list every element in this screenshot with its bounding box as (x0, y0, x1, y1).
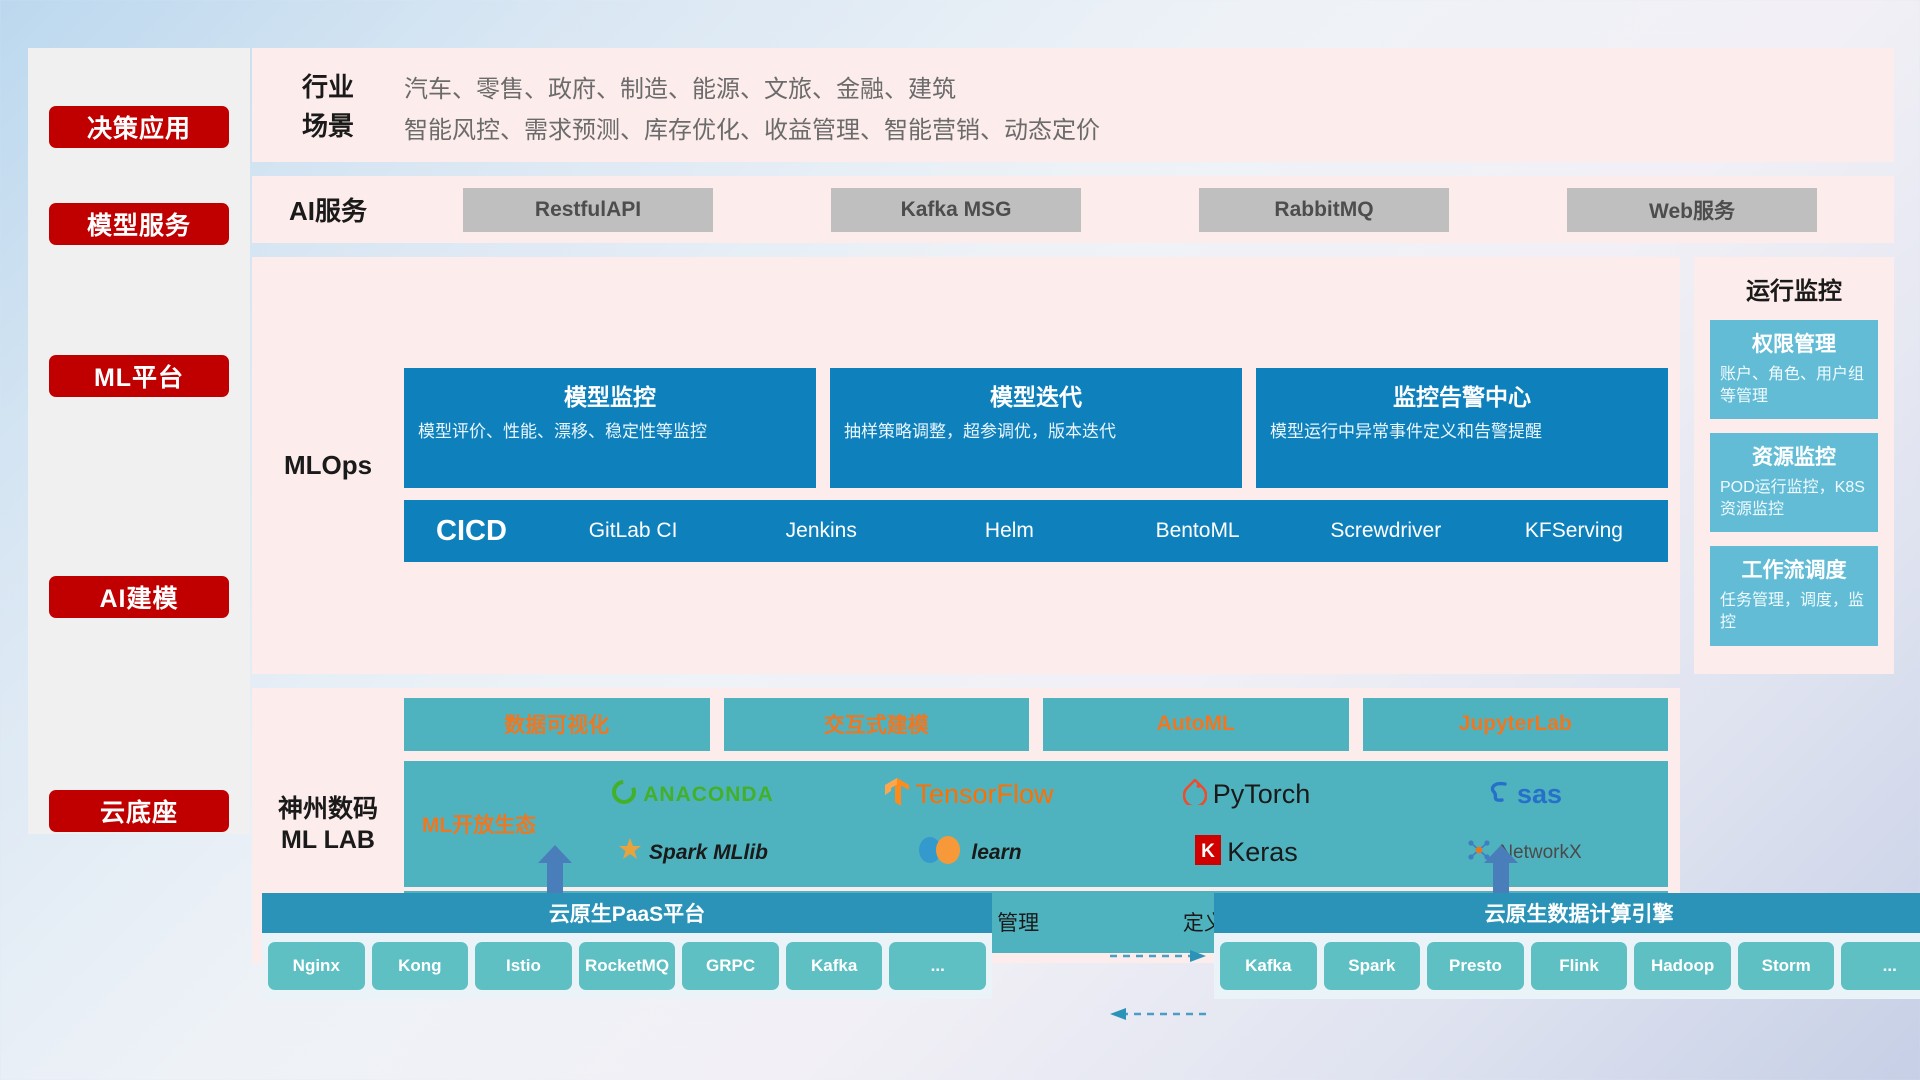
arrow-up-left-icon (538, 845, 572, 893)
apps-label-column: 行业 场景 (252, 66, 404, 144)
ml-eco-label: ML开放生态 (404, 809, 554, 839)
monitor-card-desc: 任务管理，调度，监控 (1720, 590, 1868, 633)
mlops-label: MLOps (284, 450, 372, 481)
mlops-card-desc: 抽样策略调整，超参调优，版本迭代 (844, 421, 1228, 444)
monitor-card-title: 权限管理 (1720, 328, 1868, 358)
monitor-title: 运行监控 (1710, 271, 1878, 306)
lab-tool-2[interactable]: AutoML (1043, 698, 1349, 751)
cicd-item-3[interactable]: BentoML (1104, 517, 1292, 545)
service-chip-3[interactable]: Web服务 (1567, 188, 1817, 232)
mlops-card-title: 模型迭代 (844, 378, 1228, 412)
services-label-column: AI服务 (252, 191, 404, 228)
monitor-card-list: 权限管理账户、角色、用户组等管理资源监控POD运行监控，K8S资源监控工作流调度… (1710, 320, 1878, 646)
band-ai-services: AI服务 RestfulAPIKafka MSGRabbitMQWeb服务 (252, 176, 1894, 243)
cloud-paas-chip-1[interactable]: Kong (372, 942, 469, 990)
cloud-paas-chip-3[interactable]: RocketMQ (579, 942, 676, 990)
anaconda-icon (611, 779, 637, 810)
cicd-item-0[interactable]: GitLab CI (539, 517, 727, 545)
mlops-card-1[interactable]: 模型迭代抽样策略调整，超参调优，版本迭代 (830, 368, 1242, 488)
band-divider (252, 243, 1894, 257)
rail-item-2[interactable]: ML平台 (49, 355, 229, 397)
row-ml-platform: MLOps 模型监控模型评价、性能、漂移、稳定性等监控模型迭代抽样策略调整，超参… (252, 257, 1894, 674)
cicd-item-4[interactable]: Screwdriver (1292, 517, 1480, 545)
mlops-card-desc: 模型运行中异常事件定义和告警提醒 (1270, 421, 1654, 444)
mlops-label-column: MLOps (252, 450, 404, 481)
pytorch-icon (1183, 779, 1207, 810)
apps-industry-text: 汽车、零售、政府、制造、能源、文旅、金融、建筑 (404, 66, 1894, 107)
mlops-card-2[interactable]: 监控告警中心模型运行中异常事件定义和告警提醒 (1256, 368, 1668, 488)
rail-item-3[interactable]: AI建模 (49, 576, 229, 618)
cicd-item-list: GitLab CIJenkinsHelmBentoMLScrewdriverKF… (539, 517, 1668, 545)
ml-lab-tool-list: 数据可视化交互式建模AutoMLJupyterLab (404, 698, 1668, 751)
service-chip-2[interactable]: RabbitMQ (1199, 188, 1449, 232)
monitor-card-2[interactable]: 工作流调度任务管理，调度，监控 (1710, 546, 1878, 645)
tensorflow-icon (885, 778, 909, 811)
cloud-column-paas: 云原生PaaS平台 NginxKongIstioRocketMQGRPCKafk… (262, 893, 992, 999)
cloud-column-data-engine: 云原生数据计算引擎 KafkaSparkPrestoFlinkHadoopSto… (1214, 893, 1920, 999)
cloud-paas-title: 云原生PaaS平台 (262, 893, 992, 933)
monitor-card-desc: POD运行监控，K8S资源监控 (1720, 477, 1868, 520)
cloud-paas-chip-5[interactable]: Kafka (786, 942, 883, 990)
lab-tool-1[interactable]: 交互式建模 (724, 698, 1030, 751)
mlops-body: 模型监控模型评价、性能、漂移、稳定性等监控模型迭代抽样策略调整，超参调优，版本迭… (404, 368, 1680, 562)
cloud-data-engine-chip-4[interactable]: Hadoop (1634, 942, 1731, 990)
apps-row-label-scenario: 场景 (302, 106, 354, 143)
ml-lab-name-line: 神州数码 (252, 794, 404, 825)
band-decision-applications: 行业 场景 汽车、零售、政府、制造、能源、文旅、金融、建筑 智能风控、需求预测、… (252, 48, 1894, 162)
cloud-data-engine-chip-3[interactable]: Flink (1531, 942, 1628, 990)
cloud-paas-chip-2[interactable]: Istio (475, 942, 572, 990)
monitor-card-title: 资源监控 (1720, 441, 1868, 471)
monitor-card-title: 工作流调度 (1720, 554, 1868, 584)
mlops-card-list: 模型监控模型评价、性能、漂移、稳定性等监控模型迭代抽样策略调整，超参调优，版本迭… (404, 368, 1668, 488)
apps-scenario-text: 智能风控、需求预测、库存优化、收益管理、智能营销、动态定价 (404, 107, 1894, 148)
arrow-right-dashed-icon (1110, 949, 1206, 963)
rail-item-4[interactable]: 云底座 (49, 790, 229, 832)
cloud-data-engine-chip-5[interactable]: Storm (1738, 942, 1835, 990)
arrow-left-dashed-icon (1110, 1007, 1206, 1021)
cicd-item-5[interactable]: KFServing (1480, 517, 1668, 545)
services-chip-list: RestfulAPIKafka MSGRabbitMQWeb服务 (404, 188, 1894, 232)
framework-logo-3: sas (1485, 779, 1562, 810)
mlops-card-0[interactable]: 模型监控模型评价、性能、漂移、稳定性等监控 (404, 368, 816, 488)
band-runtime-monitoring: 运行监控 权限管理账户、角色、用户组等管理资源监控POD运行监控，K8S资源监控… (1694, 257, 1894, 674)
framework-logo-label: TensorFlow (915, 779, 1053, 810)
cloud-data-engine-title: 云原生数据计算引擎 (1214, 893, 1920, 933)
services-label: AI服务 (289, 191, 367, 228)
cloud-data-engine-chip-6[interactable]: ... (1841, 942, 1920, 990)
framework-logo-0: ANACONDA (611, 779, 774, 810)
architecture-main: 行业 场景 汽车、零售、政府、制造、能源、文旅、金融、建筑 智能风控、需求预测、… (252, 48, 1894, 963)
cicd-title: CICD (404, 515, 539, 548)
mlops-card-title: 模型监控 (418, 378, 802, 412)
mlops-card-title: 监控告警中心 (1270, 378, 1654, 412)
sas-icon (1485, 779, 1511, 810)
cloud-data-engine-chip-2[interactable]: Presto (1427, 942, 1524, 990)
monitor-card-desc: 账户、角色、用户组等管理 (1720, 364, 1868, 407)
monitor-card-0[interactable]: 权限管理账户、角色、用户组等管理 (1710, 320, 1878, 419)
service-chip-1[interactable]: Kafka MSG (831, 188, 1081, 232)
framework-logo-label: sas (1517, 779, 1562, 810)
apps-text-column: 汽车、零售、政府、制造、能源、文旅、金融、建筑 智能风控、需求预测、库存优化、收… (404, 66, 1894, 144)
rail-item-1[interactable]: 模型服务 (49, 203, 229, 245)
cloud-data-engine-chip-list: KafkaSparkPrestoFlinkHadoopStorm... (1214, 933, 1920, 999)
cicd-item-2[interactable]: Helm (915, 517, 1103, 545)
cloud-paas-chip-list: NginxKongIstioRocketMQGRPCKafka... (262, 933, 992, 999)
cloud-paas-chip-0[interactable]: Nginx (268, 942, 365, 990)
band-mlops: MLOps 模型监控模型评价、性能、漂移、稳定性等监控模型迭代抽样策略调整，超参… (252, 257, 1680, 674)
framework-logo-label: PyTorch (1213, 779, 1311, 810)
cicd-bar: CICD GitLab CIJenkinsHelmBentoMLScrewdri… (404, 500, 1668, 562)
cicd-item-1[interactable]: Jenkins (727, 517, 915, 545)
cloud-data-engine-chip-0[interactable]: Kafka (1220, 942, 1317, 990)
cloud-data-engine-chip-1[interactable]: Spark (1324, 942, 1421, 990)
framework-logo-2: PyTorch (1183, 779, 1311, 810)
arrow-up-right-icon (1484, 845, 1518, 893)
rail-item-0[interactable]: 决策应用 (49, 106, 229, 148)
framework-logo-1: TensorFlow (885, 778, 1053, 811)
service-chip-0[interactable]: RestfulAPI (463, 188, 713, 232)
cloud-paas-chip-4[interactable]: GRPC (682, 942, 779, 990)
mlops-card-desc: 模型评价、性能、漂移、稳定性等监控 (418, 421, 802, 444)
framework-logo-label: ANACONDA (643, 783, 774, 807)
monitor-card-1[interactable]: 资源监控POD运行监控，K8S资源监控 (1710, 433, 1878, 532)
cloud-foundation: 云原生PaaS平台 NginxKongIstioRocketMQGRPCKafk… (252, 845, 1894, 1060)
lab-tool-3[interactable]: JupyterLab (1363, 698, 1669, 751)
lab-tool-0[interactable]: 数据可视化 (404, 698, 710, 751)
stack-level-rail: 决策应用模型服务ML平台AI建模云底座 (28, 48, 250, 834)
band-divider (252, 162, 1894, 176)
cloud-paas-chip-6[interactable]: ... (889, 942, 986, 990)
apps-row-label-industry: 行业 (302, 67, 354, 104)
